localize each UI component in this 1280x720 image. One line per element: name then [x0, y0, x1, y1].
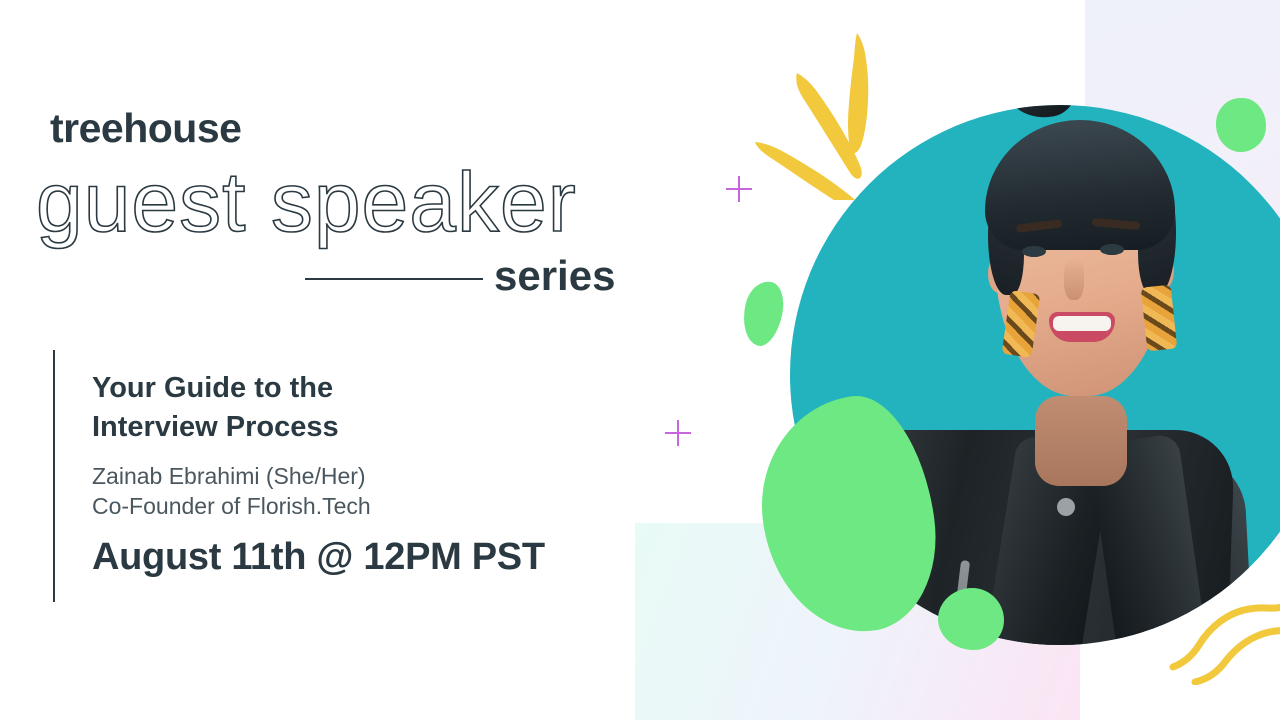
details-accent-bar [53, 350, 55, 602]
speaker-role: Co-Founder of Florish.Tech [92, 491, 371, 521]
hair-top [985, 120, 1175, 250]
left-eye [1022, 246, 1046, 257]
right-eye [1100, 244, 1124, 255]
promo-slide: treehouse guest speaker series Your Guid… [0, 0, 1280, 720]
right-earring [1141, 285, 1178, 352]
series-label: series [494, 255, 615, 297]
treehouse-logo-wordmark: treehouse [50, 108, 241, 149]
green-blob-small-left [738, 278, 789, 349]
event-date-time: August 11th @ 12PM PST [92, 535, 545, 581]
speaker-name: Zainab Ebrahimi (She/Her) [92, 461, 366, 491]
talk-title: Your Guide to the Interview Process [92, 369, 542, 446]
yellow-squiggle-lines-icon [1165, 585, 1280, 685]
neck [1035, 396, 1127, 486]
teeth [1053, 316, 1111, 331]
series-divider-rule [305, 278, 483, 280]
jacket-collar-stud [1057, 498, 1075, 516]
yellow-sparkle-strokes-icon [745, 25, 915, 200]
magenta-plus-icon-bottom [665, 420, 691, 446]
green-blob-small-bottom [938, 588, 1004, 650]
page-title: guest speaker [36, 160, 577, 244]
nose [1064, 258, 1084, 300]
content-column: treehouse guest speaker series Your Guid… [0, 0, 660, 720]
mouth [1049, 312, 1115, 342]
